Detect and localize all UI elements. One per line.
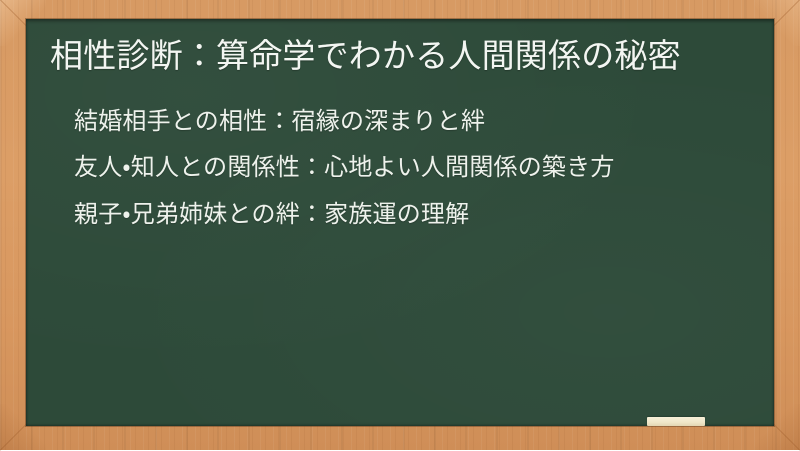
chalk-stick — [647, 417, 705, 426]
list-item: 結婚相手との相性：宿縁の深まりと絆 — [50, 106, 746, 139]
slide-bullet-list: 結婚相手との相性：宿縁の深まりと絆 友人・知人との関係性：心地よい人間関係の築き… — [50, 106, 750, 232]
blackboard-content: 相性診断：算命学でわかる人間関係の秘密 結婚相手との相性：宿縁の深まりと絆 友人… — [26, 19, 774, 231]
blackboard: 相性診断：算命学でわかる人間関係の秘密 結婚相手との相性：宿縁の深まりと絆 友人… — [26, 19, 774, 426]
list-item: 親子・兄弟姉妹との絆：家族運の理解 — [50, 199, 746, 232]
slide-title: 相性診断：算命学でわかる人間関係の秘密 — [50, 34, 730, 78]
list-item: 友人・知人との関係性：心地よい人間関係の築き方 — [50, 152, 746, 185]
blackboard-wooden-frame: 相性診断：算命学でわかる人間関係の秘密 結婚相手との相性：宿縁の深まりと絆 友人… — [0, 0, 800, 450]
